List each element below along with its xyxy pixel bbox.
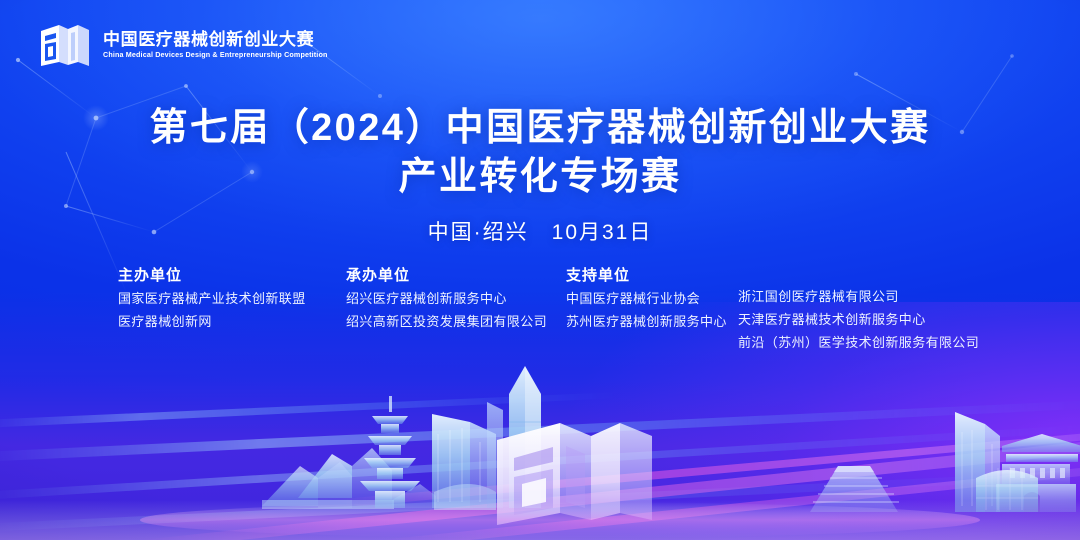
organizer-item: 浙江国创医疗器械有限公司 xyxy=(738,290,996,303)
organizer-column-supporter: 支持单位 中国医疗器械行业协会 苏州医疗器械创新服务中心 xyxy=(566,264,738,328)
competition-book-logo-icon xyxy=(38,22,92,68)
poster-venue-date: 中国·绍兴 10月31日 xyxy=(0,216,1080,246)
organizer-item: 绍兴医疗器械创新服务中心 xyxy=(346,292,566,305)
organizer-item: 前沿（苏州）医学技术创新服务有限公司 xyxy=(738,336,996,349)
brand-name-cn: 中国医疗器械创新创业大赛 xyxy=(103,31,334,49)
organizer-item: 苏州医疗器械创新服务中心 xyxy=(566,315,738,328)
poster-title-line1: 第七届（2024）中国医疗器械创新创业大赛 xyxy=(0,104,1080,153)
organizer-column-supporter-extra: 浙江国创医疗器械有限公司 天津医疗器械技术创新服务中心 前沿（苏州）医学技术创新… xyxy=(738,264,996,349)
organizer-section: 主办单位 国家医疗器械产业技术创新联盟 医疗器械创新网 承办单位 绍兴医疗器械创… xyxy=(118,264,998,349)
brand-logo[interactable]: 中国医疗器械创新创业大赛 China Medical Devices Desig… xyxy=(38,22,334,68)
brand-name-en: China Medical Devices Design & Entrepren… xyxy=(103,51,327,59)
organizer-item: 中国医疗器械行业协会 xyxy=(566,292,738,305)
poster-canvas: 中国医疗器械创新创业大赛 China Medical Devices Desig… xyxy=(0,0,1080,540)
organizer-item: 绍兴高新区投资发展集团有限公司 xyxy=(346,315,566,328)
poster-title-line2: 产业转化专场赛 xyxy=(0,153,1080,202)
organizer-item: 天津医疗器械技术创新服务中心 xyxy=(738,313,996,326)
organizer-column-coorganizer: 承办单位 绍兴医疗器械创新服务中心 绍兴高新区投资发展集团有限公司 xyxy=(346,264,566,328)
organizer-heading: 支持单位 xyxy=(566,264,738,285)
poster-title-block: 第七届（2024）中国医疗器械创新创业大赛 产业转化专场赛 xyxy=(0,104,1080,201)
organizer-heading: 承办单位 xyxy=(346,264,566,285)
organizer-item: 医疗器械创新网 xyxy=(118,315,346,328)
organizer-item: 国家医疗器械产业技术创新联盟 xyxy=(118,292,346,305)
organizer-heading: 主办单位 xyxy=(118,264,346,285)
organizer-column-host: 主办单位 国家医疗器械产业技术创新联盟 医疗器械创新网 xyxy=(118,264,346,328)
